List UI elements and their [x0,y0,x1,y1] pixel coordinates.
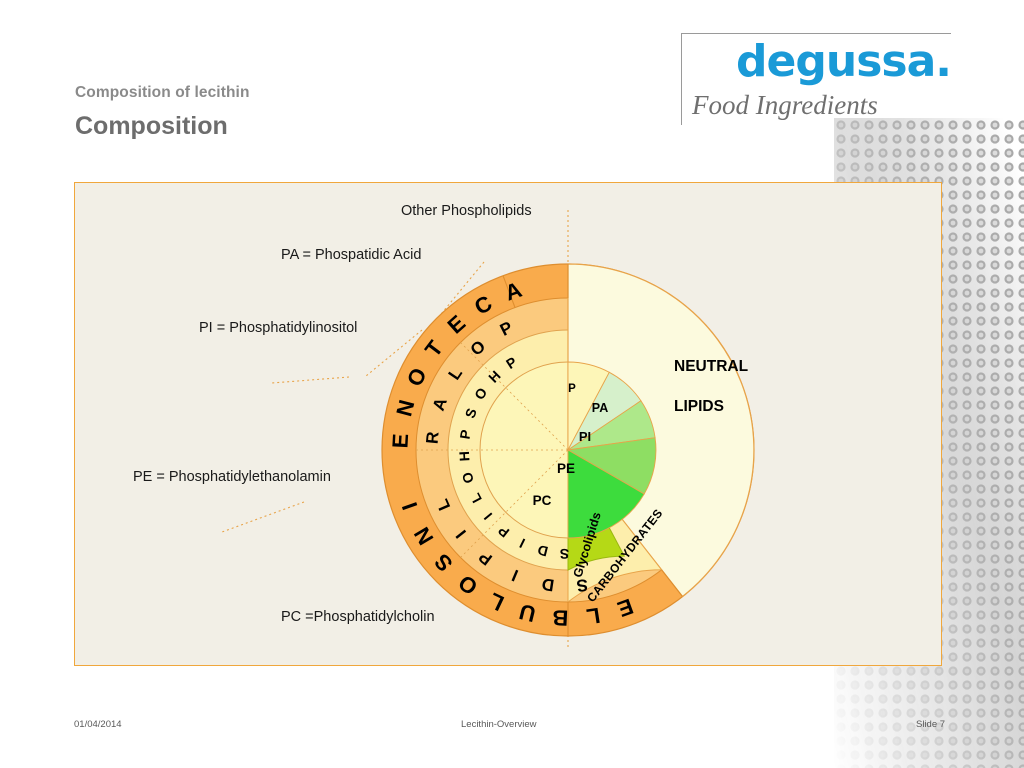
callout-pi: PI = Phosphatidylinositol [199,320,357,336]
neutral-lipids-line1: NEUTRAL [674,358,748,375]
neutral-lipids-line2: LIPIDS [674,398,724,415]
footer-date: 01/04/2014 [74,719,122,730]
wedge-label-pc: PC [533,493,552,508]
svg-text:R: R [423,431,443,445]
callout-pa: PA = Phospatidic Acid [281,247,421,263]
wedge-label-pa: PA [592,401,608,415]
wedge-label-pe: PE [557,461,575,476]
callout-other-phospholipids: Other Phospholipids [401,203,532,219]
wedge-label-p: P [568,383,576,395]
svg-text:H: H [456,451,473,462]
slide-kicker: Composition of lecithin [75,84,250,102]
wedge-label-pi: PI [579,429,591,444]
footer-slide-number: Slide 7 [916,719,945,730]
page-title: Composition [75,112,228,141]
svg-text:S: S [559,546,569,562]
brand-name: degussa. [736,40,951,84]
slide-canvas: degussa. Food Ingredients Composition of… [0,0,1024,768]
footer-topic: Lecithin-Overview [461,719,537,730]
callout-pc: PC =Phosphatidylcholin [281,609,435,625]
brand-tagline: Food Ingredients [692,92,878,119]
lecithin-composition-chart: NEUTRAL LIPIDS P PA PI PE PC Glycolipids… [74,182,942,666]
callout-pe: PE = Phosphatidylethanolamin [133,469,331,485]
brand-logo: degussa. Food Ingredients [681,33,951,125]
svg-text:B: B [552,605,569,631]
svg-text:S: S [576,575,589,595]
chart-rings: NEUTRAL LIPIDS P PA PI PE PC Glycolipids… [382,264,754,636]
svg-text:E: E [387,433,413,449]
